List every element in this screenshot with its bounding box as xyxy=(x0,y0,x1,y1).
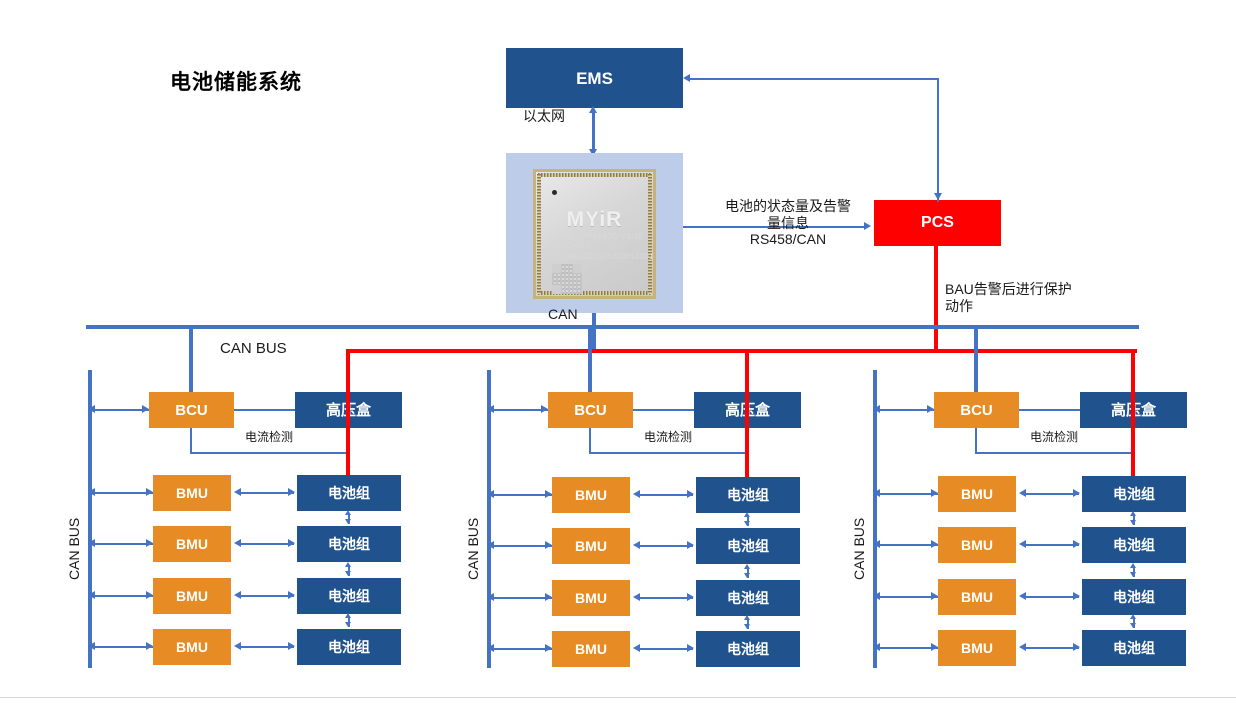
cluster-1-pack-4-arrow-right-icon xyxy=(288,642,295,650)
cluster-3-pack-1[interactable]: 电池组 xyxy=(1082,476,1186,512)
cluster-3-pack-2-arrow-left-icon xyxy=(1019,540,1026,548)
cluster-1-sense-h xyxy=(190,452,348,454)
cluster-2-bmu-3-arrow-left-icon xyxy=(487,593,494,601)
cluster-2-bmu-1-link xyxy=(491,494,552,496)
cluster-1-bmu-2[interactable]: BMU xyxy=(153,526,231,562)
cluster-1-bmu-1[interactable]: BMU xyxy=(153,475,231,511)
status-info-label-line1: 电池的状态量及告警 xyxy=(700,198,876,215)
cluster-2-series-2-down-icon xyxy=(744,573,750,578)
cluster-3-series-2-down-icon xyxy=(1130,572,1136,577)
cluster-3-bmu-4-link xyxy=(877,647,938,649)
cluster-2-pack-4-arrow-left-icon xyxy=(633,644,640,652)
cluster-1-current-sense-label: 电流检测 xyxy=(245,429,293,446)
cluster-1-bcu[interactable]: BCU xyxy=(149,392,234,428)
cluster-3-sense-v1 xyxy=(975,428,977,454)
cluster-1-can-spine xyxy=(88,370,92,668)
som-panel: MYiR PN:MYC-YA157C-V3-4E 512D-65-I SN:WK… xyxy=(506,153,683,313)
cluster-2-can-spine xyxy=(487,370,491,668)
cluster-1-pack-4-link xyxy=(238,646,294,648)
cluster-3-bmu-2-link xyxy=(877,544,938,546)
diagram-canvas: 电池储能系统 EMS 以太网 MYiR PN:MYC-YA157C-V3-4E … xyxy=(0,0,1236,704)
cluster-2-bcu-link xyxy=(491,409,548,411)
cluster-3-bcu-hv-link xyxy=(1019,409,1080,411)
cluster-1-series-3-up-icon xyxy=(345,613,351,618)
cluster-1-bmu-3-arrow-left-icon xyxy=(88,591,95,599)
cluster-1-bcu-drop xyxy=(189,329,193,392)
cluster-1-bmu-2-arrow-left-icon xyxy=(88,539,95,547)
cluster-3-bmu-4-arrow-right-icon xyxy=(931,643,938,651)
cluster-3-bcu-drop xyxy=(974,329,978,392)
cluster-3-bmu-3[interactable]: BMU xyxy=(938,579,1016,615)
cluster-2-pack-3-arrow-right-icon xyxy=(687,593,694,601)
chip-pads-left xyxy=(537,174,541,294)
cluster-2-protection-drop xyxy=(745,349,749,478)
cluster-2-series-1-up-icon xyxy=(744,512,750,517)
pcs-input-arrow-icon xyxy=(934,193,942,200)
cluster-2-bcu[interactable]: BCU xyxy=(548,392,633,428)
cluster-2-bmu-4-link xyxy=(491,648,552,650)
som-can-drop xyxy=(592,313,596,353)
cluster-2-pack-4-link xyxy=(637,648,693,650)
cluster-2-bmu-2-arrow-right-icon xyxy=(545,541,552,549)
cluster-3-bmu-1-link xyxy=(877,493,938,495)
cluster-1-pack-1-arrow-left-icon xyxy=(234,488,241,496)
cluster-1-series-3-down-icon xyxy=(345,622,351,627)
cluster-2-series-1-down-icon xyxy=(744,521,750,526)
cluster-1-pack-3-arrow-left-icon xyxy=(234,591,241,599)
cluster-3-bmu-3-arrow-left-icon xyxy=(873,592,880,600)
cluster-2-pack-3[interactable]: 电池组 xyxy=(696,580,800,616)
cluster-2-pack-4-arrow-right-icon xyxy=(687,644,694,652)
ems-node[interactable]: EMS xyxy=(506,48,683,108)
cluster-2-pack-2-arrow-right-icon xyxy=(687,541,694,549)
chip-part-number: PN:MYC-YA157C-V3-4E xyxy=(552,232,644,241)
page-title: 电池储能系统 xyxy=(170,66,302,96)
cluster-1-sense-v1 xyxy=(190,428,192,454)
cluster-2-pack-3-arrow-left-icon xyxy=(633,593,640,601)
cluster-1-bcu-hv-link xyxy=(234,409,295,411)
cluster-1-pack-4[interactable]: 电池组 xyxy=(297,629,401,665)
cluster-1-bmu-1-link xyxy=(92,492,153,494)
cluster-1-series-1-down-icon xyxy=(345,519,351,524)
chip-serial-number: SN:WK2022031400010001 xyxy=(552,252,654,261)
cluster-1-series-2-up-icon xyxy=(345,562,351,567)
cluster-3-pack-1-link xyxy=(1023,493,1079,495)
cluster-2-bmu-4[interactable]: BMU xyxy=(552,631,630,667)
cluster-1-pack-2-link xyxy=(238,543,294,545)
cluster-2-bmu-4-arrow-right-icon xyxy=(545,644,552,652)
cluster-2-bcu-hv-link xyxy=(633,409,694,411)
cluster-3-bmu-1-arrow-left-icon xyxy=(873,489,880,497)
cluster-2-bmu-3-arrow-right-icon xyxy=(545,593,552,601)
can-label: CAN xyxy=(548,306,578,323)
cluster-1-pack-1-arrow-right-icon xyxy=(288,488,295,496)
pcs-to-ems-horizontal xyxy=(690,78,939,80)
status-info-label-line2: 量信息 xyxy=(700,215,876,232)
ethernet-link-line xyxy=(592,110,595,154)
som-module-chip: MYiR PN:MYC-YA157C-V3-4E 512D-65-I SN:WK… xyxy=(533,169,656,299)
cluster-1-pack-1-link xyxy=(238,492,294,494)
cluster-3-sense-h xyxy=(975,452,1133,454)
cluster-1-pack-2-arrow-left-icon xyxy=(234,539,241,547)
cluster-1-bmu-4-arrow-left-icon xyxy=(88,642,95,650)
cluster-3-bmu-1-arrow-right-icon xyxy=(931,489,938,497)
cluster-2-current-sense-label: 电流检测 xyxy=(644,429,692,446)
chip-qr-code-icon xyxy=(552,264,582,294)
cluster-3-pack-3[interactable]: 电池组 xyxy=(1082,579,1186,615)
can-bus-main-line xyxy=(86,325,1139,329)
cluster-2-pack-1[interactable]: 电池组 xyxy=(696,477,800,513)
ems-feedback-arrow-icon xyxy=(683,74,690,82)
cluster-3-pack-3-arrow-left-icon xyxy=(1019,592,1026,600)
cluster-2-series-3-down-icon xyxy=(744,624,750,629)
cluster-3-bmu-2-arrow-left-icon xyxy=(873,540,880,548)
cluster-1-bmu-4-arrow-right-icon xyxy=(146,642,153,650)
cluster-2-sense-v1 xyxy=(589,428,591,454)
chip-part-number-2: 512D-65-I xyxy=(552,241,589,250)
chip-brand-label: MYiR xyxy=(536,208,653,232)
ethernet-label: 以太网 xyxy=(523,108,565,125)
protection-label-line1: BAU告警后进行保护 xyxy=(945,281,1072,298)
cluster-1-pack-4-arrow-left-icon xyxy=(234,642,241,650)
cluster-3-pack-1-arrow-right-icon xyxy=(1073,489,1080,497)
cluster-3-bcu-link xyxy=(877,409,934,411)
protection-bus-line xyxy=(348,349,1137,353)
cluster-3-bmu-4-arrow-left-icon xyxy=(873,643,880,651)
pcs-to-ems-vertical xyxy=(937,78,939,202)
cluster-2-series-3-up-icon xyxy=(744,615,750,620)
cluster-3-bcu[interactable]: BCU xyxy=(934,392,1019,428)
cluster-1-bmu-4-link xyxy=(92,646,153,648)
cluster-2-pack-4[interactable]: 电池组 xyxy=(696,631,800,667)
cluster-2-bmu-2[interactable]: BMU xyxy=(552,528,630,564)
cluster-3-pack-2[interactable]: 电池组 xyxy=(1082,527,1186,563)
cluster-3-series-3-up-icon xyxy=(1130,614,1136,619)
cluster-3-series-2-up-icon xyxy=(1130,563,1136,568)
protection-label-line2: 动作 xyxy=(945,298,973,315)
can-bus-main-label: CAN BUS xyxy=(220,340,287,357)
cluster-2-bcu-arrow-left-icon xyxy=(487,405,494,413)
cluster-3-series-3-down-icon xyxy=(1130,623,1136,628)
cluster-2-series-2-up-icon xyxy=(744,564,750,569)
cluster-3-bmu-3-link xyxy=(877,596,938,598)
cluster-3-can-bus-label: CAN BUS xyxy=(851,518,867,580)
cluster-2-bmu-1[interactable]: BMU xyxy=(552,477,630,513)
cluster-2-bmu-4-arrow-left-icon xyxy=(487,644,494,652)
cluster-3-pack-3-link xyxy=(1023,596,1079,598)
cluster-1-bmu-2-arrow-right-icon xyxy=(146,539,153,547)
cluster-1-bmu-3-arrow-right-icon xyxy=(146,591,153,599)
cluster-1-bcu-arrow-right-icon xyxy=(142,405,149,413)
cluster-3-bmu-2[interactable]: BMU xyxy=(938,527,1016,563)
cluster-3-bmu-2-arrow-right-icon xyxy=(931,540,938,548)
chip-pin1-dot-icon xyxy=(552,190,557,195)
cluster-1-bcu-arrow-left-icon xyxy=(88,405,95,413)
cluster-3-pack-1-arrow-left-icon xyxy=(1019,489,1026,497)
cluster-3-can-spine xyxy=(873,370,877,668)
cluster-3-series-1-up-icon xyxy=(1130,511,1136,516)
cluster-1-bmu-1-arrow-left-icon xyxy=(88,488,95,496)
cluster-3-pack-3-arrow-right-icon xyxy=(1073,592,1080,600)
cluster-1-pack-3-arrow-right-icon xyxy=(288,591,295,599)
cluster-2-pack-2-arrow-left-icon xyxy=(633,541,640,549)
cluster-3-pack-2-link xyxy=(1023,544,1079,546)
cluster-1-series-2-down-icon xyxy=(345,571,351,576)
cluster-2-bmu-3-link xyxy=(491,597,552,599)
cluster-1-can-bus-label: CAN BUS xyxy=(66,518,82,580)
cluster-1-bmu-1-arrow-right-icon xyxy=(146,488,153,496)
cluster-2-sense-h xyxy=(589,452,747,454)
cluster-2-can-bus-label: CAN BUS xyxy=(465,518,481,580)
cluster-2-pack-2[interactable]: 电池组 xyxy=(696,528,800,564)
cluster-1-pack-1[interactable]: 电池组 xyxy=(297,475,401,511)
cluster-3-pack-4-link xyxy=(1023,647,1079,649)
cluster-1-bmu-3[interactable]: BMU xyxy=(153,578,231,614)
cluster-2-bmu-2-arrow-left-icon xyxy=(487,541,494,549)
cluster-2-pack-3-link xyxy=(637,597,693,599)
cluster-3-protection-drop xyxy=(1131,349,1135,478)
cluster-1-pack-3[interactable]: 电池组 xyxy=(297,578,401,614)
cluster-3-pack-2-arrow-right-icon xyxy=(1073,540,1080,548)
cluster-1-pack-3-link xyxy=(238,595,294,597)
cluster-3-bcu-arrow-left-icon xyxy=(873,405,880,413)
cluster-1-pack-2[interactable]: 电池组 xyxy=(297,526,401,562)
chip-pads-right xyxy=(648,174,652,294)
cluster-2-pack-2-link xyxy=(637,545,693,547)
cluster-2-bcu-arrow-right-icon xyxy=(541,405,548,413)
protocol-label: RS458/CAN xyxy=(700,231,876,248)
cluster-3-current-sense-label: 电流检测 xyxy=(1030,429,1078,446)
cluster-2-bmu-2-link xyxy=(491,545,552,547)
pcs-node[interactable]: PCS xyxy=(874,200,1001,246)
cluster-3-series-1-down-icon xyxy=(1130,520,1136,525)
cluster-1-protection-drop xyxy=(346,349,350,478)
cluster-3-bmu-4[interactable]: BMU xyxy=(938,630,1016,666)
cluster-1-pack-2-arrow-right-icon xyxy=(288,539,295,547)
cluster-1-bmu-3-link xyxy=(92,595,153,597)
cluster-1-bmu-2-link xyxy=(92,543,153,545)
cluster-2-bmu-3[interactable]: BMU xyxy=(552,580,630,616)
chip-pads-top xyxy=(538,173,651,177)
cluster-3-bcu-arrow-right-icon xyxy=(927,405,934,413)
cluster-3-pack-4-arrow-left-icon xyxy=(1019,643,1026,651)
cluster-2-pack-1-link xyxy=(637,494,693,496)
cluster-1-bcu-link xyxy=(92,409,149,411)
cluster-2-pack-1-arrow-right-icon xyxy=(687,490,694,498)
cluster-3-pack-4[interactable]: 电池组 xyxy=(1082,630,1186,666)
pcs-protection-line xyxy=(934,246,938,352)
ethernet-arrow-up-icon xyxy=(589,106,597,113)
cluster-3-pack-4-arrow-right-icon xyxy=(1073,643,1080,651)
bottom-divider xyxy=(0,697,1236,698)
cluster-3-bmu-1[interactable]: BMU xyxy=(938,476,1016,512)
cluster-3-bmu-3-arrow-right-icon xyxy=(931,592,938,600)
cluster-1-bmu-4[interactable]: BMU xyxy=(153,629,231,665)
cluster-2-bmu-1-arrow-left-icon xyxy=(487,490,494,498)
cluster-2-bcu-drop xyxy=(588,329,592,392)
cluster-2-pack-1-arrow-left-icon xyxy=(633,490,640,498)
cluster-1-series-1-up-icon xyxy=(345,510,351,515)
cluster-2-bmu-1-arrow-right-icon xyxy=(545,490,552,498)
